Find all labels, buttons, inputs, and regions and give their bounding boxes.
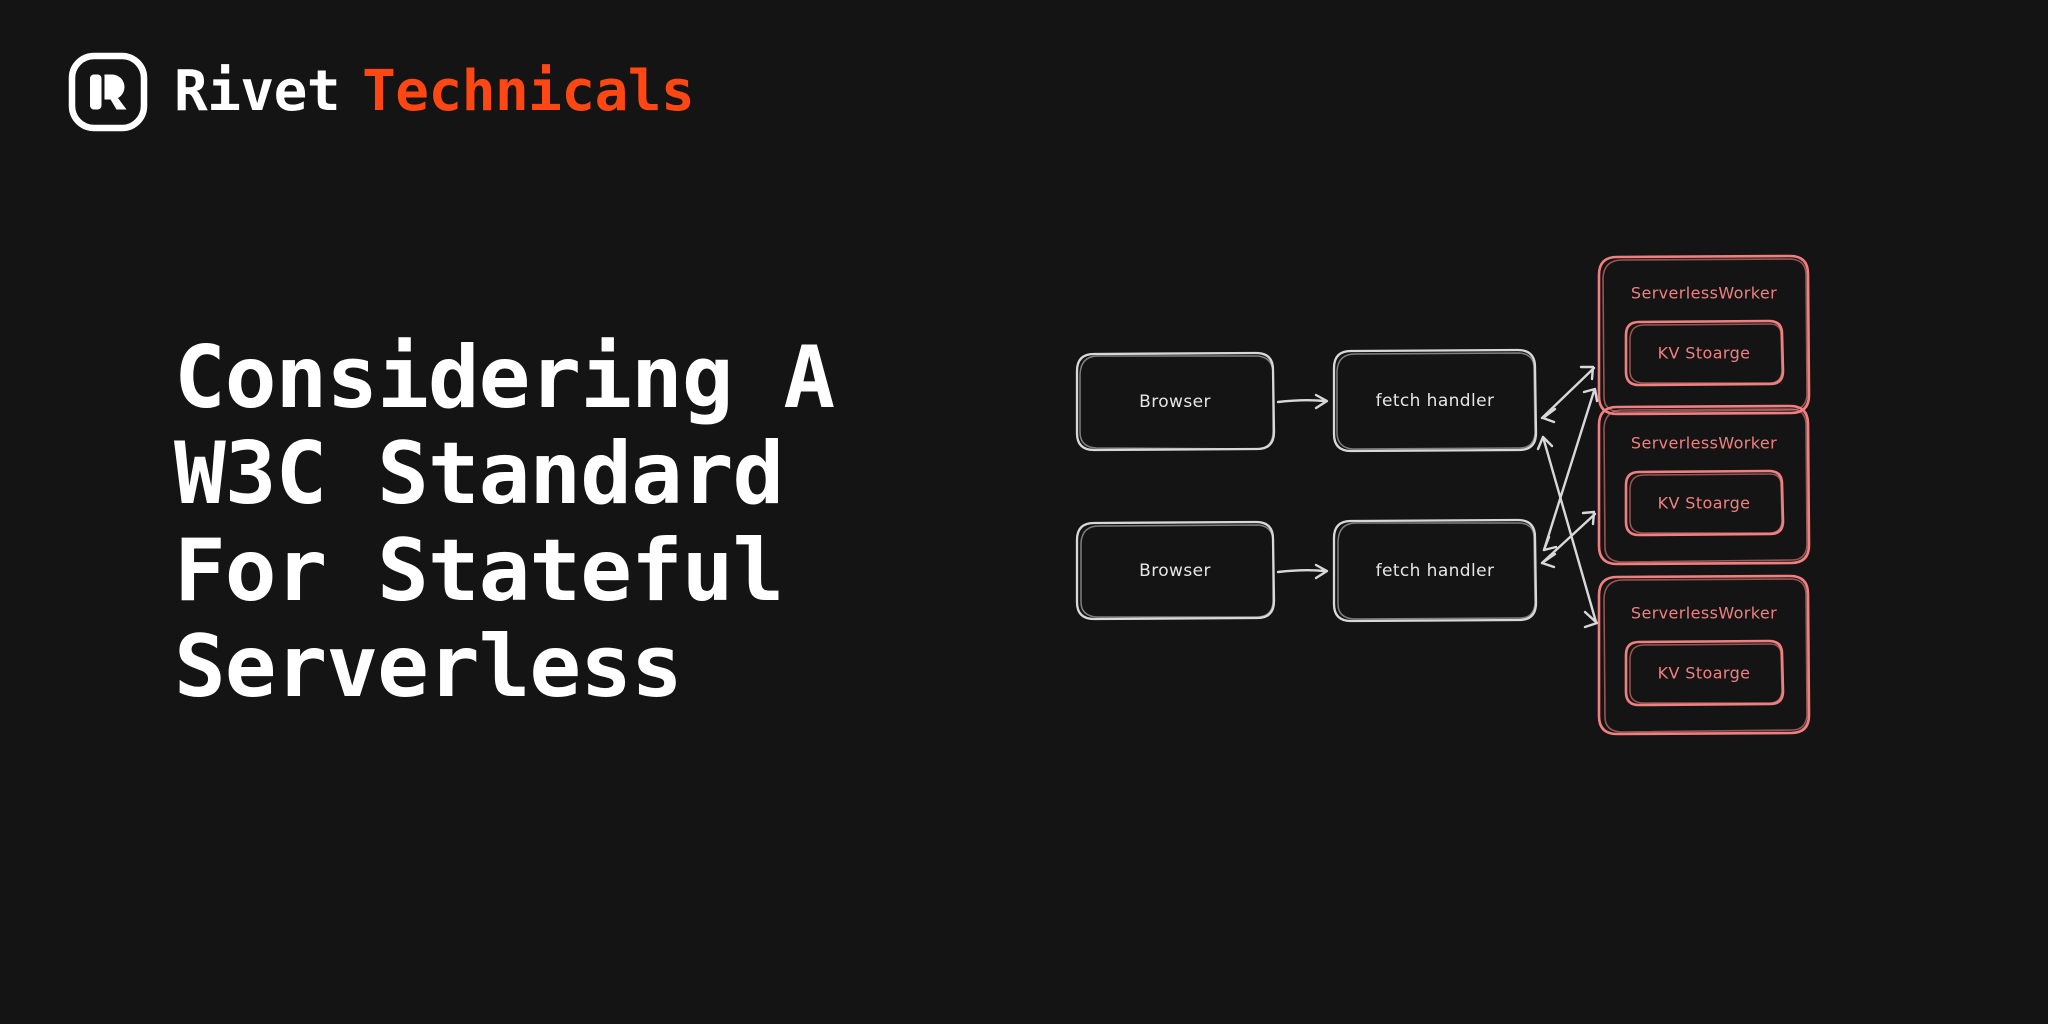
slide-canvas: Rivet Technicals Considering A W3C Stand… — [0, 0, 2048, 1024]
diagram-node-label: fetch handler — [1376, 391, 1495, 411]
diagram-node-label: ServerlessWorker — [1631, 284, 1777, 303]
diagram-node-label: ServerlessWorker — [1631, 604, 1777, 623]
brand-name: Rivet — [174, 64, 340, 120]
diagram-node-label: KV Stoarge — [1658, 494, 1751, 513]
headline-line-3: For Stateful — [174, 523, 1114, 619]
headline-line-2: W3C Standard — [174, 426, 1114, 522]
diagram-edge-handler1-worker3 — [1538, 437, 1597, 627]
diagram-node-label: KV Stoarge — [1658, 344, 1751, 363]
architecture-diagram: Browser Browser fetch handler fetch hand… — [1060, 250, 1960, 770]
diagram-edge-browser2-handler2 — [1278, 565, 1327, 578]
diagram-node-label: Browser — [1139, 392, 1211, 412]
rivet-r-logo-icon — [68, 52, 148, 132]
brand-suffix: Technicals — [362, 64, 694, 120]
page-title: Considering A W3C Standard For Stateful … — [174, 330, 1114, 715]
diagram-node-handler-2: fetch handler — [1334, 520, 1536, 621]
headline-line-4: Serverless — [174, 619, 1114, 715]
diagram-node-label: fetch handler — [1376, 561, 1495, 581]
diagram-node-label: ServerlessWorker — [1631, 434, 1777, 453]
diagram-edge-browser1-handler1 — [1278, 395, 1327, 408]
diagram-node-label: KV Stoarge — [1658, 664, 1751, 683]
diagram-node-browser-2: Browser — [1077, 522, 1274, 619]
diagram-node-label: Browser — [1139, 561, 1211, 581]
diagram-node-worker-2: ServerlessWorker KV Stoarge — [1599, 406, 1809, 564]
headline-line-1: Considering A — [174, 330, 1114, 426]
diagram-node-worker-3: ServerlessWorker KV Stoarge — [1599, 576, 1809, 734]
diagram-node-handler-1: fetch handler — [1334, 350, 1536, 451]
diagram-node-browser-1: Browser — [1077, 353, 1274, 450]
diagram-node-worker-1: ServerlessWorker KV Stoarge — [1599, 256, 1809, 414]
brand-header: Rivet Technicals — [68, 52, 694, 132]
brand-wordmark: Rivet Technicals — [174, 64, 694, 120]
diagram-edge-handler2-worker2 — [1542, 512, 1595, 567]
